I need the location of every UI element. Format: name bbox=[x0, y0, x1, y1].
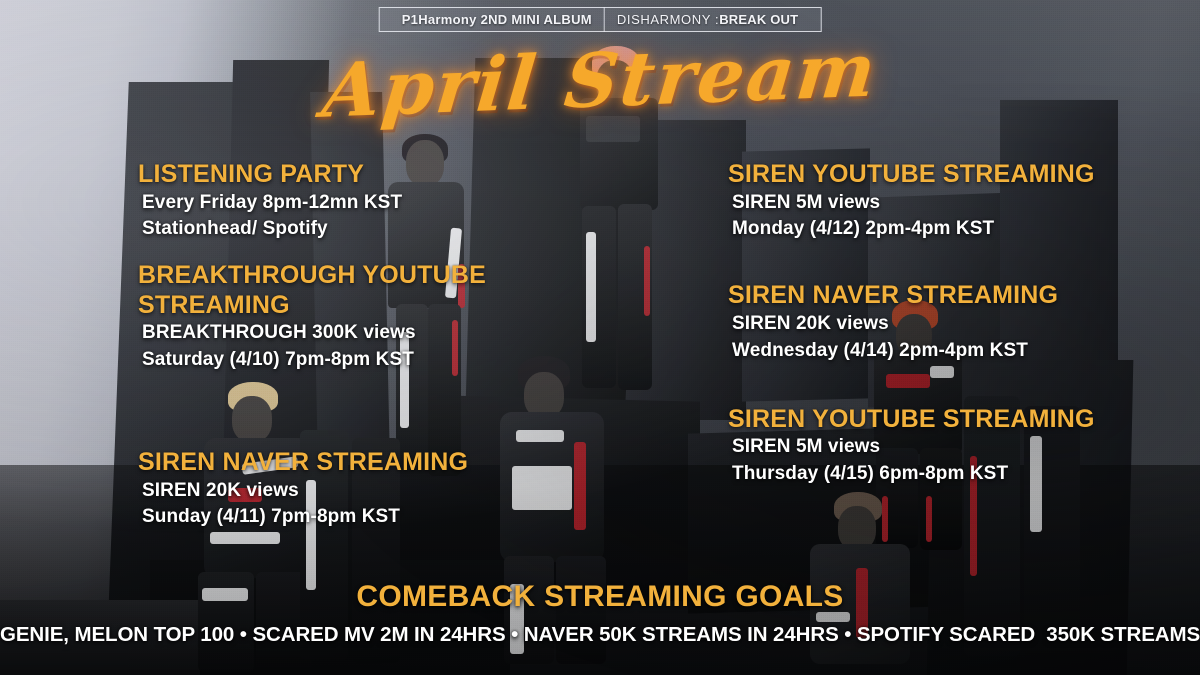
page-title: April Stream bbox=[0, 21, 1200, 141]
schedule-block-siren-youtube-1: SIREN YOUTUBE STREAMING SIREN 5M views M… bbox=[728, 160, 1148, 243]
schedule-heading: LISTENING PARTY bbox=[138, 160, 538, 190]
schedule-heading: SIREN YOUTUBE STREAMING bbox=[728, 160, 1148, 190]
right-schedule-column: SIREN YOUTUBE STREAMING SIREN 5M views M… bbox=[728, 160, 1148, 498]
schedule-detail-line: Wednesday (4/14) 2pm-4pm KST bbox=[732, 338, 1148, 365]
schedule-heading: SIREN YOUTUBE STREAMING bbox=[728, 405, 1148, 435]
schedule-detail-line: Saturday (4/10) 7pm-8pm KST bbox=[142, 347, 538, 374]
release-prefix-text: DISHARMONY : bbox=[617, 12, 719, 27]
schedule-detail-line: BREAKTHROUGH 300K views bbox=[142, 320, 538, 347]
schedule-detail-line: SIREN 5M views bbox=[732, 190, 1148, 217]
schedule-heading: SIREN NAVER STREAMING bbox=[728, 281, 1148, 311]
left-schedule-column: LISTENING PARTY Every Friday 8pm-12mn KS… bbox=[138, 160, 538, 374]
album-title-label: P1Harmony 2ND MINI ALBUM bbox=[390, 11, 604, 28]
goals-list: GENIE, MELON TOP 100 • SCARED MV 2M IN 2… bbox=[0, 623, 1200, 647]
schedule-detail-line: Stationhead/ Spotify bbox=[142, 216, 538, 243]
schedule-heading: SIREN NAVER STREAMING bbox=[138, 448, 538, 478]
schedule-block-listening-party: LISTENING PARTY Every Friday 8pm-12mn KS… bbox=[138, 160, 538, 243]
schedule-block-siren-naver-2: SIREN NAVER STREAMING SIREN 20K views We… bbox=[728, 281, 1148, 364]
schedule-heading: BREAKTHROUGH YOUTUBE STREAMING bbox=[138, 261, 538, 320]
schedule-detail-line: Monday (4/12) 2pm-4pm KST bbox=[732, 216, 1148, 243]
schedule-detail-line: Thursday (4/15) 6pm-8pm KST bbox=[732, 461, 1148, 488]
goals-heading: COMEBACK STREAMING GOALS bbox=[0, 580, 1200, 614]
schedule-block-breakthrough-youtube: BREAKTHROUGH YOUTUBE STREAMING BREAKTHRO… bbox=[138, 261, 538, 374]
release-name-text: BREAK OUT bbox=[719, 12, 798, 27]
schedule-detail-line: Every Friday 8pm-12mn KST bbox=[142, 190, 538, 217]
schedule-detail-line: Sunday (4/11) 7pm-8pm KST bbox=[142, 504, 538, 531]
text-overlay: P1Harmony 2ND MINI ALBUM DISHARMONY : BR… bbox=[0, 0, 1200, 675]
schedule-block-siren-naver: SIREN NAVER STREAMING SIREN 20K views Su… bbox=[138, 448, 538, 531]
schedule-detail-line: SIREN 20K views bbox=[142, 478, 538, 505]
poster-canvas: P1Harmony 2ND MINI ALBUM DISHARMONY : BR… bbox=[0, 0, 1200, 675]
schedule-detail-line: SIREN 5M views bbox=[732, 434, 1148, 461]
album-release-label: DISHARMONY : BREAK OUT bbox=[605, 11, 810, 28]
schedule-detail-line: SIREN 20K views bbox=[732, 311, 1148, 338]
album-banner: P1Harmony 2ND MINI ALBUM DISHARMONY : BR… bbox=[379, 7, 822, 32]
schedule-block-siren-youtube-2: SIREN YOUTUBE STREAMING SIREN 5M views T… bbox=[728, 405, 1148, 488]
